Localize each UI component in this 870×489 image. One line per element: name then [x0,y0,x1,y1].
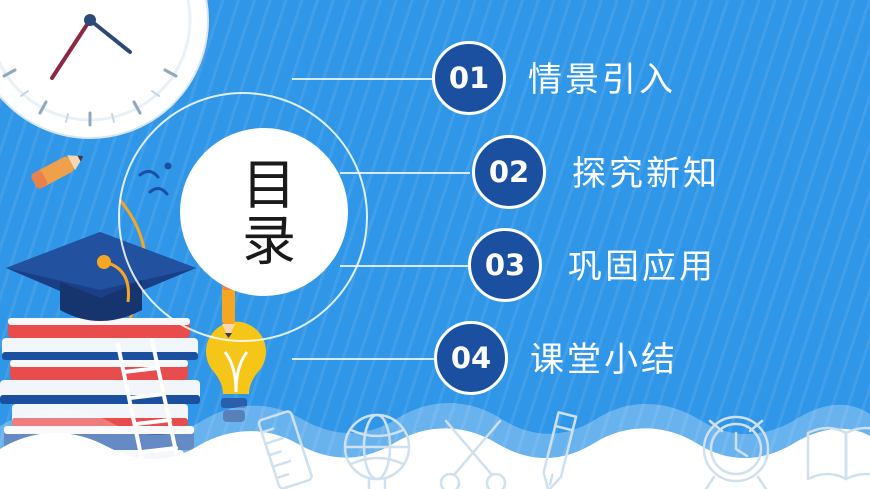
bullet-number-04: 04 [451,341,491,375]
item-label-04[interactable]: 课堂小结 [530,332,678,381]
bullet-01[interactable]: 01 [432,41,506,115]
connector-line-03 [340,265,470,267]
pen-outline-icon [540,412,576,489]
connector-line-02 [340,172,470,174]
bullet-04[interactable]: 04 [434,321,508,395]
center-title-circle: 目录 [180,128,348,296]
open-book-outline-icon [808,428,870,479]
connector-line-04 [292,358,442,360]
globe-outline-icon [345,415,409,489]
page-title: 目录 [236,156,291,268]
connector-line-01 [292,78,442,80]
pencil-illustration [30,149,87,190]
bullet-number-01: 01 [449,61,489,95]
alarm-clock-outline-icon [704,417,768,489]
item-label-01[interactable]: 情景引入 [528,52,676,101]
item-label-03[interactable]: 巩固应用 [568,239,716,288]
bullet-number-03: 03 [485,248,525,282]
bullet-02[interactable]: 02 [472,135,546,209]
bullet-03[interactable]: 03 [468,228,542,302]
item-label-02[interactable]: 探究新知 [572,146,720,195]
bottom-line-art-icons [0,359,870,489]
slide-canvas: 目录 01 情景引入 02 探究新知 03 巩固应用 04 课堂小结 [0,0,870,489]
bullet-number-02: 02 [489,155,529,189]
scissors-outline-icon [441,421,505,489]
ruler-outline-icon [258,410,313,489]
